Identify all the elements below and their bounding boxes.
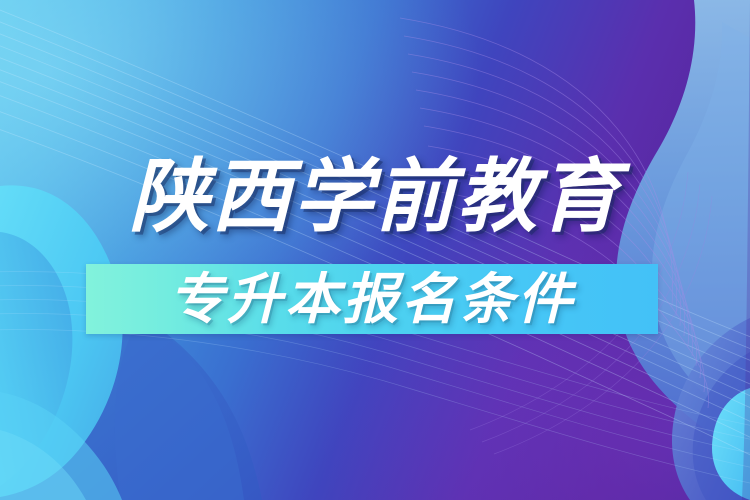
banner-subtitle-bar: 专升本报名条件 [86,264,658,334]
background-line-texture [0,0,750,500]
banner-title-text: 陕西学前教育 [129,152,621,242]
promo-banner: 陕西学前教育 专升本报名条件 [0,0,750,500]
banner-subtitle-text: 专升本报名条件 [169,269,575,329]
banner-title: 陕西学前教育 [0,152,750,242]
